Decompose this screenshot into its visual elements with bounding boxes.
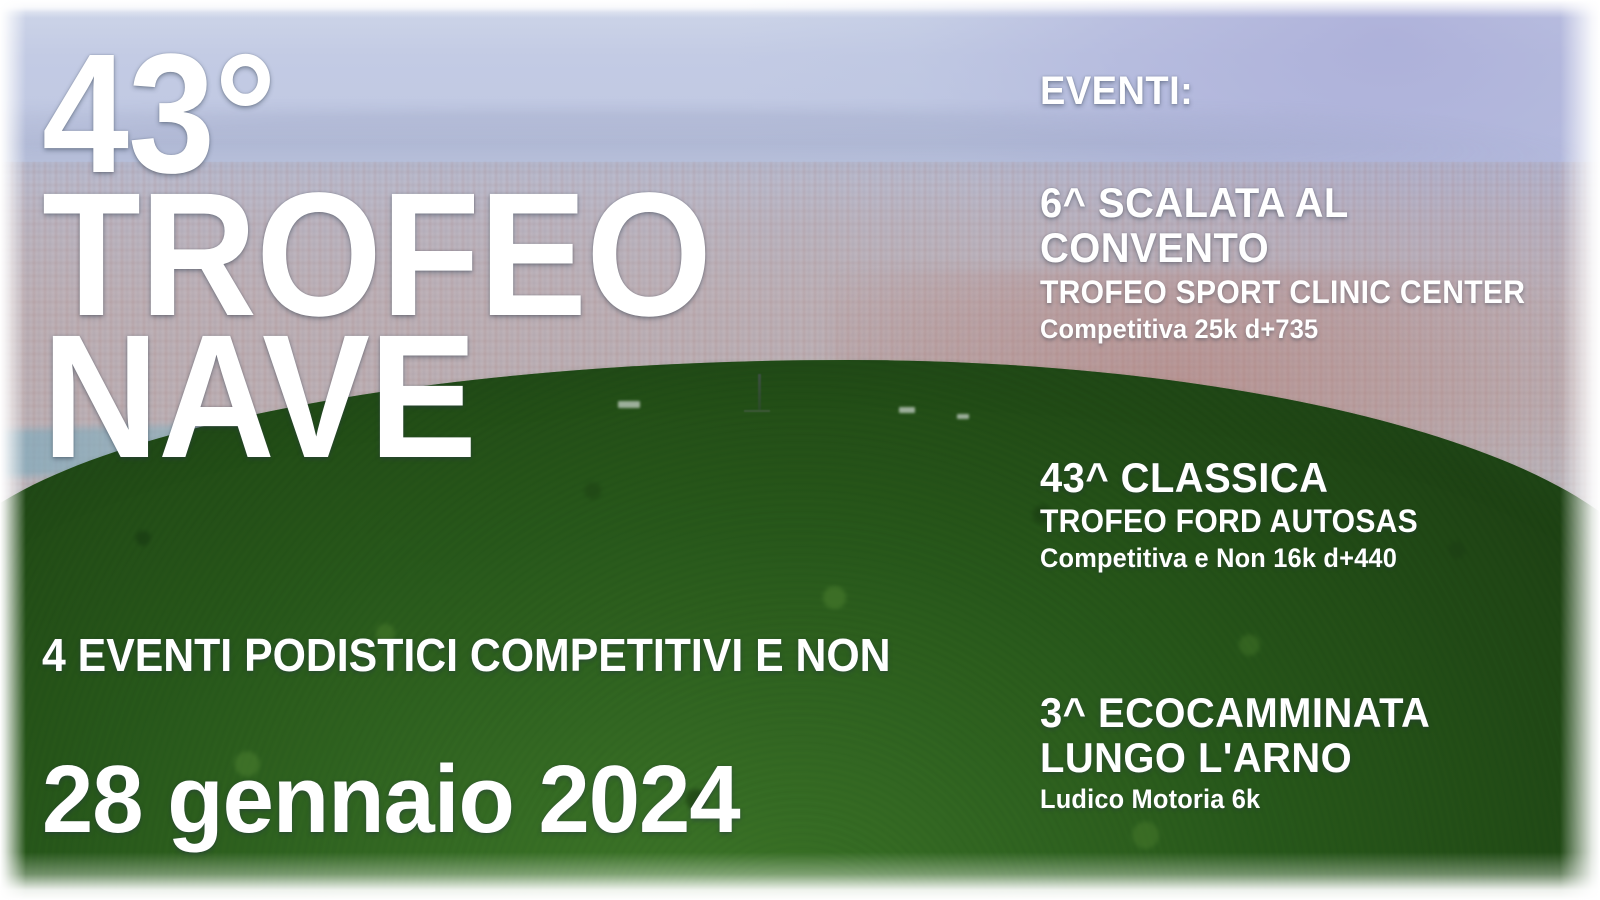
poster-subtitle: 4 EVENTI PODISTICI COMPETITIVI E NON: [42, 632, 891, 678]
event-detail: Competitiva e Non 16k d+440: [1040, 543, 1418, 574]
event-item-scalata-al-convento: 6^ SCALATA AL CONVENTO TROFEO SPORT CLIN…: [1040, 180, 1556, 345]
event-title-line1: 6^ SCALATA AL: [1040, 180, 1530, 225]
poster-canvas: 43° TROFEO NAVE 4 EVENTI PODISTICI COMPE…: [0, 0, 1600, 900]
event-item-classica: 43^ CLASSICA TROFEO FORD AUTOSAS Competi…: [1040, 455, 1442, 574]
events-panel: EVENTI: 6^ SCALATA AL CONVENTO TROFEO SP…: [1040, 70, 1580, 112]
event-item-ecocamminata: 3^ ECOCAMMINATA LUNGO L'ARNO Ludico Moto…: [1040, 690, 1451, 815]
event-date: 28 gennaio 2024: [42, 752, 740, 848]
event-title-line2: CONVENTO: [1040, 225, 1530, 270]
title-block: 43° TROFEO NAVE: [42, 46, 942, 469]
event-detail: Competitiva 25k d+735: [1040, 314, 1525, 345]
event-title-line1: 43^ CLASSICA: [1040, 455, 1422, 500]
event-sponsor: TROFEO FORD AUTOSAS: [1040, 504, 1418, 540]
event-detail: Ludico Motoria 6k: [1040, 784, 1426, 815]
event-sponsor: TROFEO SPORT CLINIC CENTER: [1040, 275, 1525, 311]
events-heading: EVENTI:: [1040, 70, 1553, 112]
poster-content: 43° TROFEO NAVE 4 EVENTI PODISTICI COMPE…: [0, 0, 1600, 900]
event-title-line2: LUNGO L'ARNO: [1040, 735, 1430, 780]
event-title-line1: 3^ ECOCAMMINATA: [1040, 690, 1430, 735]
title-line-nave: NAVE: [42, 326, 870, 469]
